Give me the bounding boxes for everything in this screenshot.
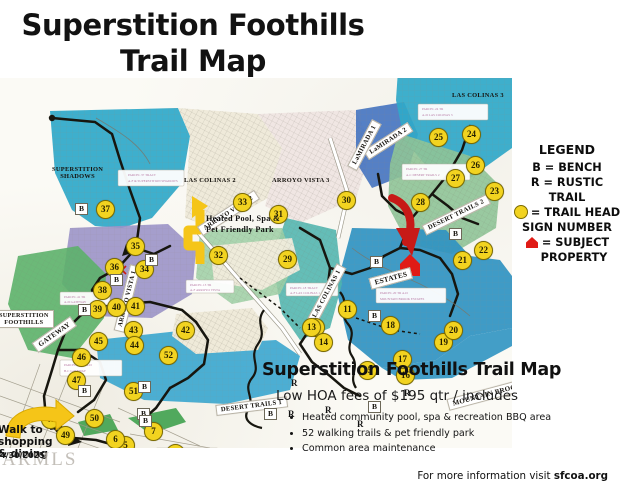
trail-head-marker[interactable]: 40	[107, 298, 126, 317]
page-title-line2: Trail Map	[18, 44, 368, 80]
bench-marker: B	[368, 310, 381, 322]
legend-trailhead-label: = TRAIL HEAD	[531, 205, 620, 220]
trail-head-marker[interactable]: 14	[314, 333, 333, 352]
trail-map-page: Superstition Foothills Trail Map	[0, 0, 622, 480]
info-bullet-item: 52 walking trails & pet friendly park	[302, 426, 614, 442]
svg-text:A-D LAS COLINAS 3: A-D LAS COLINAS 3	[422, 113, 453, 117]
bench-marker: B	[145, 254, 158, 266]
legend-trailhead-label2: SIGN NUMBER	[512, 220, 622, 235]
subject-property-house-icon	[525, 236, 539, 249]
legend-rustic-row: R = RUSTIC TRAIL	[512, 175, 622, 205]
info-heading: Superstition Foothills Trail Map	[262, 360, 614, 381]
bench-marker: B	[78, 304, 91, 316]
bench-marker: B	[449, 228, 462, 240]
info-bullet-item: Common area maintenance	[302, 441, 614, 457]
legend-title: LEGEND	[512, 142, 622, 159]
trail-head-marker[interactable]: 26	[466, 156, 485, 175]
trail-head-marker[interactable]: 33	[233, 193, 252, 212]
svg-text:PARCEL 18 TRACT: PARCEL 18 TRACT	[290, 286, 318, 290]
trail-head-marker[interactable]: 37	[96, 200, 115, 219]
trail-head-marker[interactable]: 44	[125, 336, 144, 355]
info-subheading: Low HOA fees of $195 qtr / includes	[276, 388, 614, 404]
trail-head-marker[interactable]: 41	[126, 297, 145, 316]
trail-head-marker[interactable]: 28	[411, 193, 430, 212]
trail-head-marker[interactable]: 11	[338, 300, 357, 319]
trail-head-marker[interactable]: 6	[106, 430, 125, 448]
svg-text:A-F LAS COLINAS 1: A-F LAS COLINAS 1	[290, 291, 320, 295]
svg-text:MOUNTAIN BROOK ESTATES: MOUNTAIN BROOK ESTATES	[380, 297, 425, 301]
amenity-callout: Heated Pool, Spa & Pet Friendly Park	[206, 213, 280, 235]
trail-head-marker[interactable]: 35	[126, 237, 145, 256]
legend-subject-label: = SUBJECT	[542, 235, 609, 250]
subdivision-label: SUPERSTITIONFOOTHILLS	[0, 310, 54, 328]
subdivision-label: LAS COLINAS 3	[452, 92, 504, 99]
legend-trailhead-row: = TRAIL HEAD	[512, 205, 622, 220]
legend-subject-label2: PROPERTY	[512, 250, 622, 265]
info-block: Superstition Foothills Trail Map Low HOA…	[262, 360, 614, 482]
svg-text:A-F ARROYO VISTA: A-F ARROYO VISTA	[190, 288, 221, 292]
svg-text:A-F & SUPERSTITION SHADOWS: A-F & SUPERSTITION SHADOWS	[128, 179, 178, 183]
subdivision-label: SUPERSTITIONSHADOWS	[52, 166, 103, 180]
amenity-callout-line2: Pet Friendly Park	[206, 224, 280, 235]
bench-marker: B	[370, 256, 383, 268]
walk-line2: shopping	[0, 436, 74, 448]
bench-marker: B	[139, 415, 152, 427]
subdivision-label: ARROYO VISTA 3	[272, 177, 330, 184]
bench-marker: B	[110, 274, 123, 286]
page-title-line1: Superstition Foothills	[18, 8, 368, 44]
trail-head-marker[interactable]: 18	[381, 316, 400, 335]
svg-text:PARCEL 20 TR A-D: PARCEL 20 TR A-D	[380, 291, 408, 295]
bench-marker: B	[75, 203, 88, 215]
trail-head-marker[interactable]: 22	[474, 241, 493, 260]
legend-subject-row: = SUBJECT	[512, 235, 622, 250]
trail-head-dot-icon	[514, 205, 528, 219]
bench-marker: B	[138, 381, 151, 393]
trail-head-marker[interactable]: 45	[89, 332, 108, 351]
svg-text:PARCEL 24 TR: PARCEL 24 TR	[422, 107, 444, 111]
legend: LEGEND B = BENCH R = RUSTIC TRAIL = TRAI…	[512, 142, 622, 265]
svg-text:PARCEL 41 TR: PARCEL 41 TR	[64, 295, 86, 299]
trail-head-marker[interactable]: 21	[453, 251, 472, 270]
trail-head-marker[interactable]: 30	[337, 191, 356, 210]
page-title: Superstition Foothills Trail Map	[18, 8, 368, 80]
trail-head-marker[interactable]: 23	[485, 182, 504, 201]
legend-bench-row: B = BENCH	[512, 160, 622, 175]
trail-head-marker[interactable]: 29	[278, 250, 297, 269]
svg-text:PARCEL 13 TR: PARCEL 13 TR	[190, 283, 212, 287]
trail-head-marker[interactable]: 32	[209, 246, 228, 265]
info-bullet-list: Heated community pool, spa & recreation …	[302, 410, 614, 457]
trail-head-marker[interactable]: 20	[444, 321, 463, 340]
svg-text:PARCEL 37 TRACT: PARCEL 37 TRACT	[128, 173, 156, 177]
subdivision-label: LAS COLINAS 2	[184, 177, 236, 184]
info-bullet-item: Heated community pool, spa & recreation …	[302, 410, 614, 426]
trail-head-marker[interactable]: 25	[429, 128, 448, 147]
svg-text:A-C DESERT TRAILS 2: A-C DESERT TRAILS 2	[406, 173, 440, 177]
trail-head-marker[interactable]: 24	[462, 125, 481, 144]
trail-head-marker[interactable]: 42	[176, 321, 195, 340]
walk-line1: Walk to	[0, 424, 74, 436]
date-stamp: 4/30/2025	[0, 451, 45, 460]
amenity-callout-line1: Heated Pool, Spa &	[206, 213, 280, 224]
trail-head-marker[interactable]: 46	[72, 348, 91, 367]
trail-head-marker[interactable]: 50	[85, 409, 104, 428]
trail-head-marker[interactable]: 27	[446, 169, 465, 188]
trail-head-marker[interactable]: 52	[159, 346, 178, 365]
svg-text:PARCEL 27 TR: PARCEL 27 TR	[406, 167, 428, 171]
